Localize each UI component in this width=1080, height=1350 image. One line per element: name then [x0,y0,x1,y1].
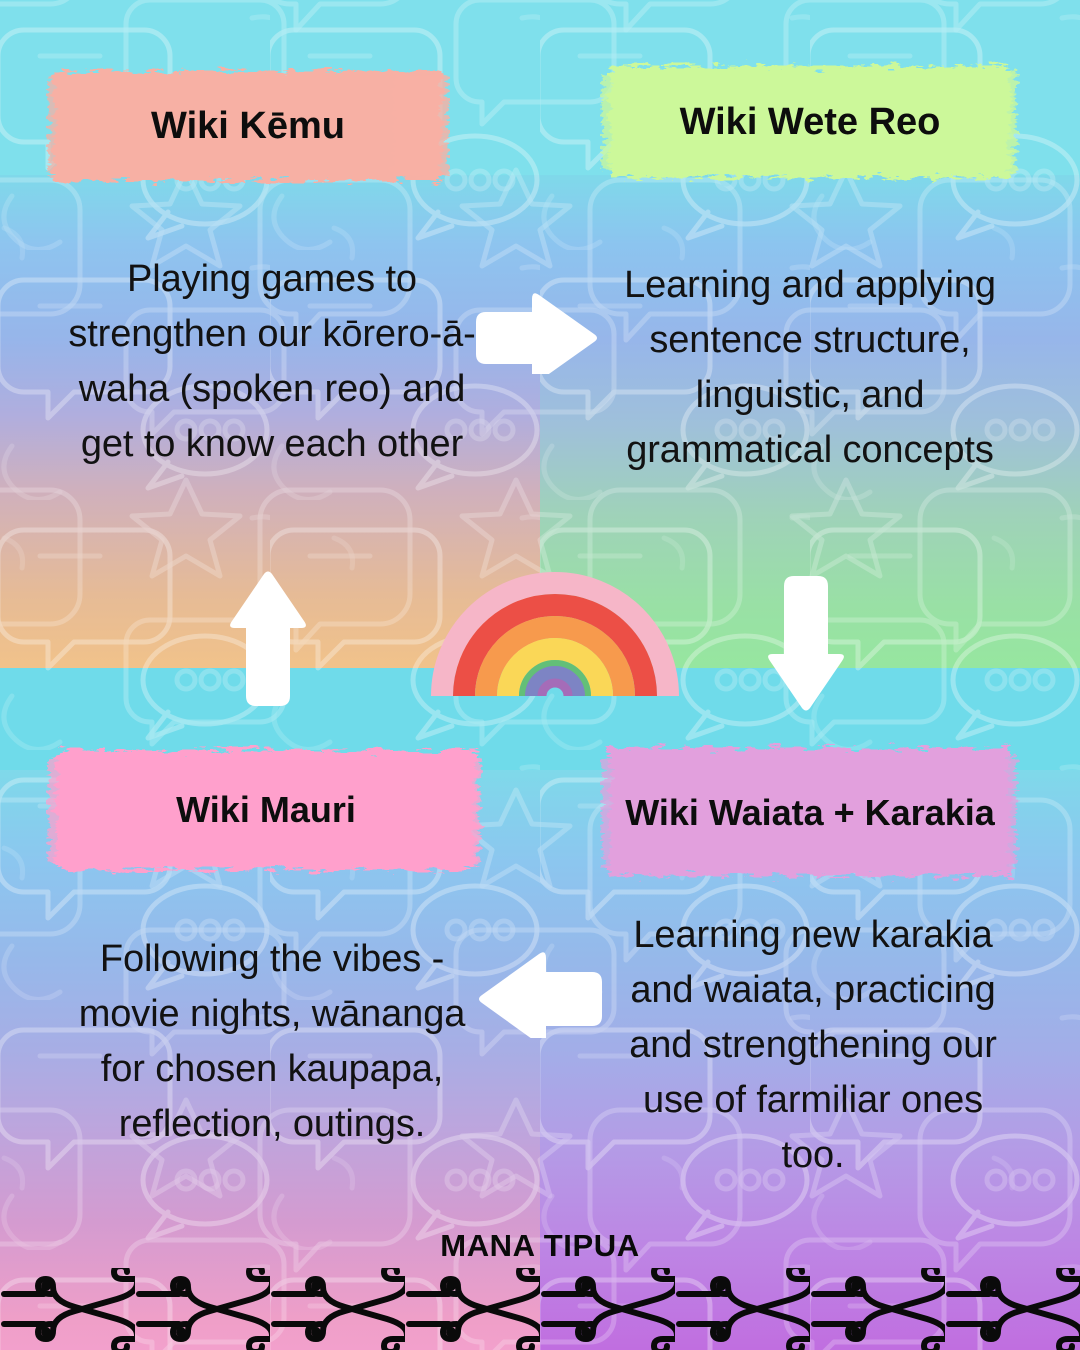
brand-name: MANA TIPUA [0,1228,1080,1264]
header-brush-wiki-mauri: Wiki Mauri [46,740,486,880]
arrow-left-icon [478,948,606,1038]
arrow-right-icon [472,292,600,374]
header-label: Wiki Waiata + Karakia [611,793,1009,833]
header-brush-wiki-wete-reo: Wiki Wete Reo [600,58,1020,186]
body-text-wiki-kemu: Playing games to strengthen our kōrero-ā… [52,252,492,472]
header-brush-wiki-kemu: Wiki Kēmu [46,62,450,190]
header-label: Wiki Mauri [162,790,370,830]
body-text-wiki-waiata-karakia: Learning new karakia and waiata, practic… [608,908,1018,1183]
poster-canvas: Wiki Kēmu Wiki Wete Reo [0,0,1080,1350]
header-brush-wiki-waiata-karakia: Wiki Waiata + Karakia [600,738,1020,888]
header-label: Wiki Wete Reo [666,101,955,144]
kowhaiwhai-border-pattern [0,1268,1080,1350]
body-text-wiki-wete-reo: Learning and applying sentence structure… [600,258,1020,478]
header-label: Wiki Kēmu [137,105,359,148]
arrow-up-icon [228,570,308,710]
body-text-wiki-mauri: Following the vibes - movie nights, wāna… [52,932,492,1152]
arrow-down-icon [766,572,846,712]
rainbow-icon [430,538,680,698]
